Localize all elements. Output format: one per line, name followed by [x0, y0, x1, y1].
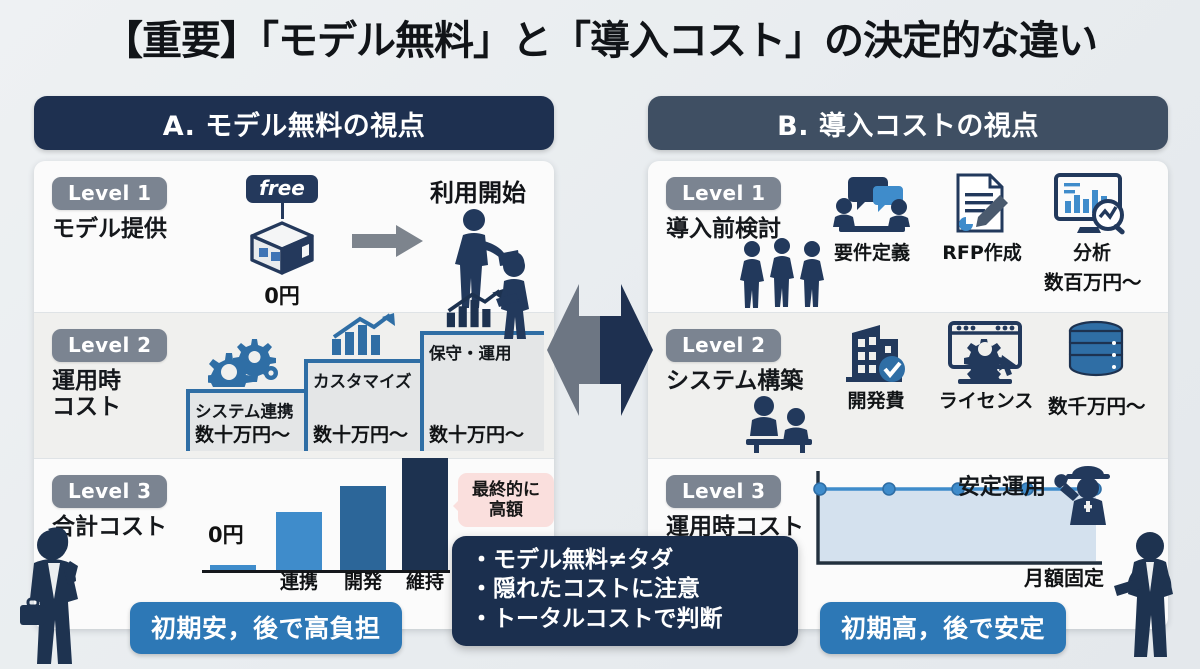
growth-chart-icon: [330, 313, 396, 357]
level-badge: Level 2: [52, 329, 167, 362]
level-title: モデル提供: [52, 217, 202, 243]
page-title: 【重要】「モデル無料」と「導入コスト」の決定的な違い: [0, 8, 1200, 66]
level-title: システム構築: [666, 369, 816, 395]
free-tag-label: free: [246, 175, 318, 203]
bar-3: [402, 458, 448, 570]
summary-box: ・モデル無料≠タダ ・隠れたコストに注意 ・トータルコストで判断: [452, 536, 798, 646]
line-chart-caption: 安定運用: [958, 469, 1046, 501]
stair-step-amount: 数十万円〜: [313, 420, 408, 447]
bar-label-3: 維持: [396, 567, 454, 594]
meeting-discussion-icon: [829, 171, 915, 237]
icon-item-rfp: RFP作成: [934, 171, 1030, 265]
icon-item-database: 数千万円〜: [1048, 319, 1144, 419]
summary-item: ・モデル無料≠タダ: [470, 546, 784, 575]
panel-a-header: A. モデル無料の視点: [34, 96, 554, 150]
arrow-right-icon: [352, 223, 424, 259]
level-badge: Level 3: [52, 475, 167, 508]
stair-step-name: カスタマイズ: [313, 368, 412, 392]
bar-zero-label: 0円: [208, 519, 244, 549]
icon-caption: 開発費: [828, 391, 924, 413]
level-badge: Level 2: [666, 329, 781, 362]
panel-a-level1-left: Level 1 モデル提供: [52, 177, 202, 243]
level-title-line1: 運用時: [52, 369, 202, 395]
panel-b-level1-left: Level 1 導入前検討: [666, 177, 816, 243]
icon-caption: RFP作成: [934, 243, 1030, 265]
open-box-icon: [246, 217, 318, 279]
level-badge: Level 1: [666, 177, 781, 210]
businessman-tablet-icon: [1110, 528, 1190, 669]
stair-step-amount: 数十万円〜: [195, 420, 290, 447]
icon-caption: 要件定義: [824, 243, 920, 265]
icon-amount: 数百万円〜: [1044, 266, 1140, 295]
engineer-wrench-icon: [1046, 461, 1126, 527]
panel-b-header: B. 導入コストの視点: [648, 96, 1168, 150]
high-cost-callout: 最終的に 高額: [458, 473, 554, 527]
summary-item: ・隠れたコストに注意: [470, 575, 784, 604]
infographic-root: 【重要】「モデル無料」と「導入コスト」の決定的な違い A. モデル無料の視点 L…: [0, 0, 1200, 669]
panel-a-summary-pill: 初期安，後で高負担: [130, 602, 402, 654]
panel-b-level1-icons: 要件定義: [824, 171, 1140, 295]
panel-b-level1-row: Level 1 導入前検討: [648, 161, 1168, 313]
stair-step: システム連携 数十万円〜: [186, 389, 306, 451]
level-title-line2: コスト: [52, 395, 202, 421]
level-badge: Level 3: [666, 475, 781, 508]
bar-0: [210, 565, 256, 570]
monitor-gear-icon: [940, 319, 1032, 385]
icon-caption: ライセンス: [938, 391, 1034, 413]
document-pen-icon: [942, 171, 1022, 237]
woman-with-tablet-icon: [486, 251, 542, 369]
panel-b-level2-left: Level 2 システム構築: [666, 329, 816, 395]
panel-b-level2-row: Level 2 システム構築: [648, 313, 1168, 459]
icon-item-license: ライセンス: [938, 319, 1034, 413]
free-amount-label: 0円: [230, 280, 334, 310]
bar-2: [340, 486, 386, 570]
database-icon: [1061, 319, 1131, 385]
icon-caption: 分析: [1044, 243, 1140, 265]
icon-item-requirements: 要件定義: [824, 171, 920, 265]
panel-a-level2-left: Level 2 運用時 コスト: [52, 329, 202, 421]
stair-step-amount: 数十万円〜: [429, 420, 524, 447]
callout-line1: 最終的に: [463, 480, 549, 500]
building-check-icon: [836, 319, 916, 385]
businessman-phone-icon: [8, 525, 94, 669]
summary-list: ・モデル無料≠タダ ・隠れたコストに注意 ・トータルコストで判断: [470, 546, 784, 634]
bar-label-1: 連携: [270, 567, 328, 594]
callout-line2: 高額: [463, 500, 549, 520]
worker-at-desk-icon: [744, 395, 818, 453]
panel-b-level3-left: Level 3 運用時コスト: [666, 475, 816, 541]
panel-b-level2-icons: 開発費: [828, 319, 1144, 419]
line-chart-footer: 月額固定: [1024, 562, 1104, 591]
total-cost-bar-chart: 0円 連携 開発 維持: [202, 473, 452, 591]
panel-a-level2-row: Level 2 運用時 コスト システム連携 数十万円〜: [34, 313, 554, 459]
three-businessmen-icon: [736, 237, 828, 309]
double-headed-arrow-icon: [545, 262, 655, 438]
gears-icon: [208, 337, 282, 387]
free-box-group: free 0円: [230, 175, 334, 310]
level-badge: Level 1: [52, 177, 167, 210]
summary-item: ・トータルコストで判断: [470, 605, 784, 634]
icon-amount: 数千万円〜: [1048, 390, 1144, 419]
monitor-analytics-icon: [1048, 171, 1136, 237]
stair-step-name: システム連携: [195, 398, 294, 422]
bar-1: [276, 512, 322, 570]
icon-item-development: 開発費: [828, 319, 924, 413]
bar-label-2: 開発: [334, 567, 392, 594]
usage-start-label: 利用開始: [430, 173, 526, 208]
icon-item-analysis: 分析 数百万円〜: [1044, 171, 1140, 295]
panel-b-summary-pill: 初期高，後で安定: [820, 602, 1066, 654]
stair-step: カスタマイズ 数十万円〜: [304, 359, 422, 451]
